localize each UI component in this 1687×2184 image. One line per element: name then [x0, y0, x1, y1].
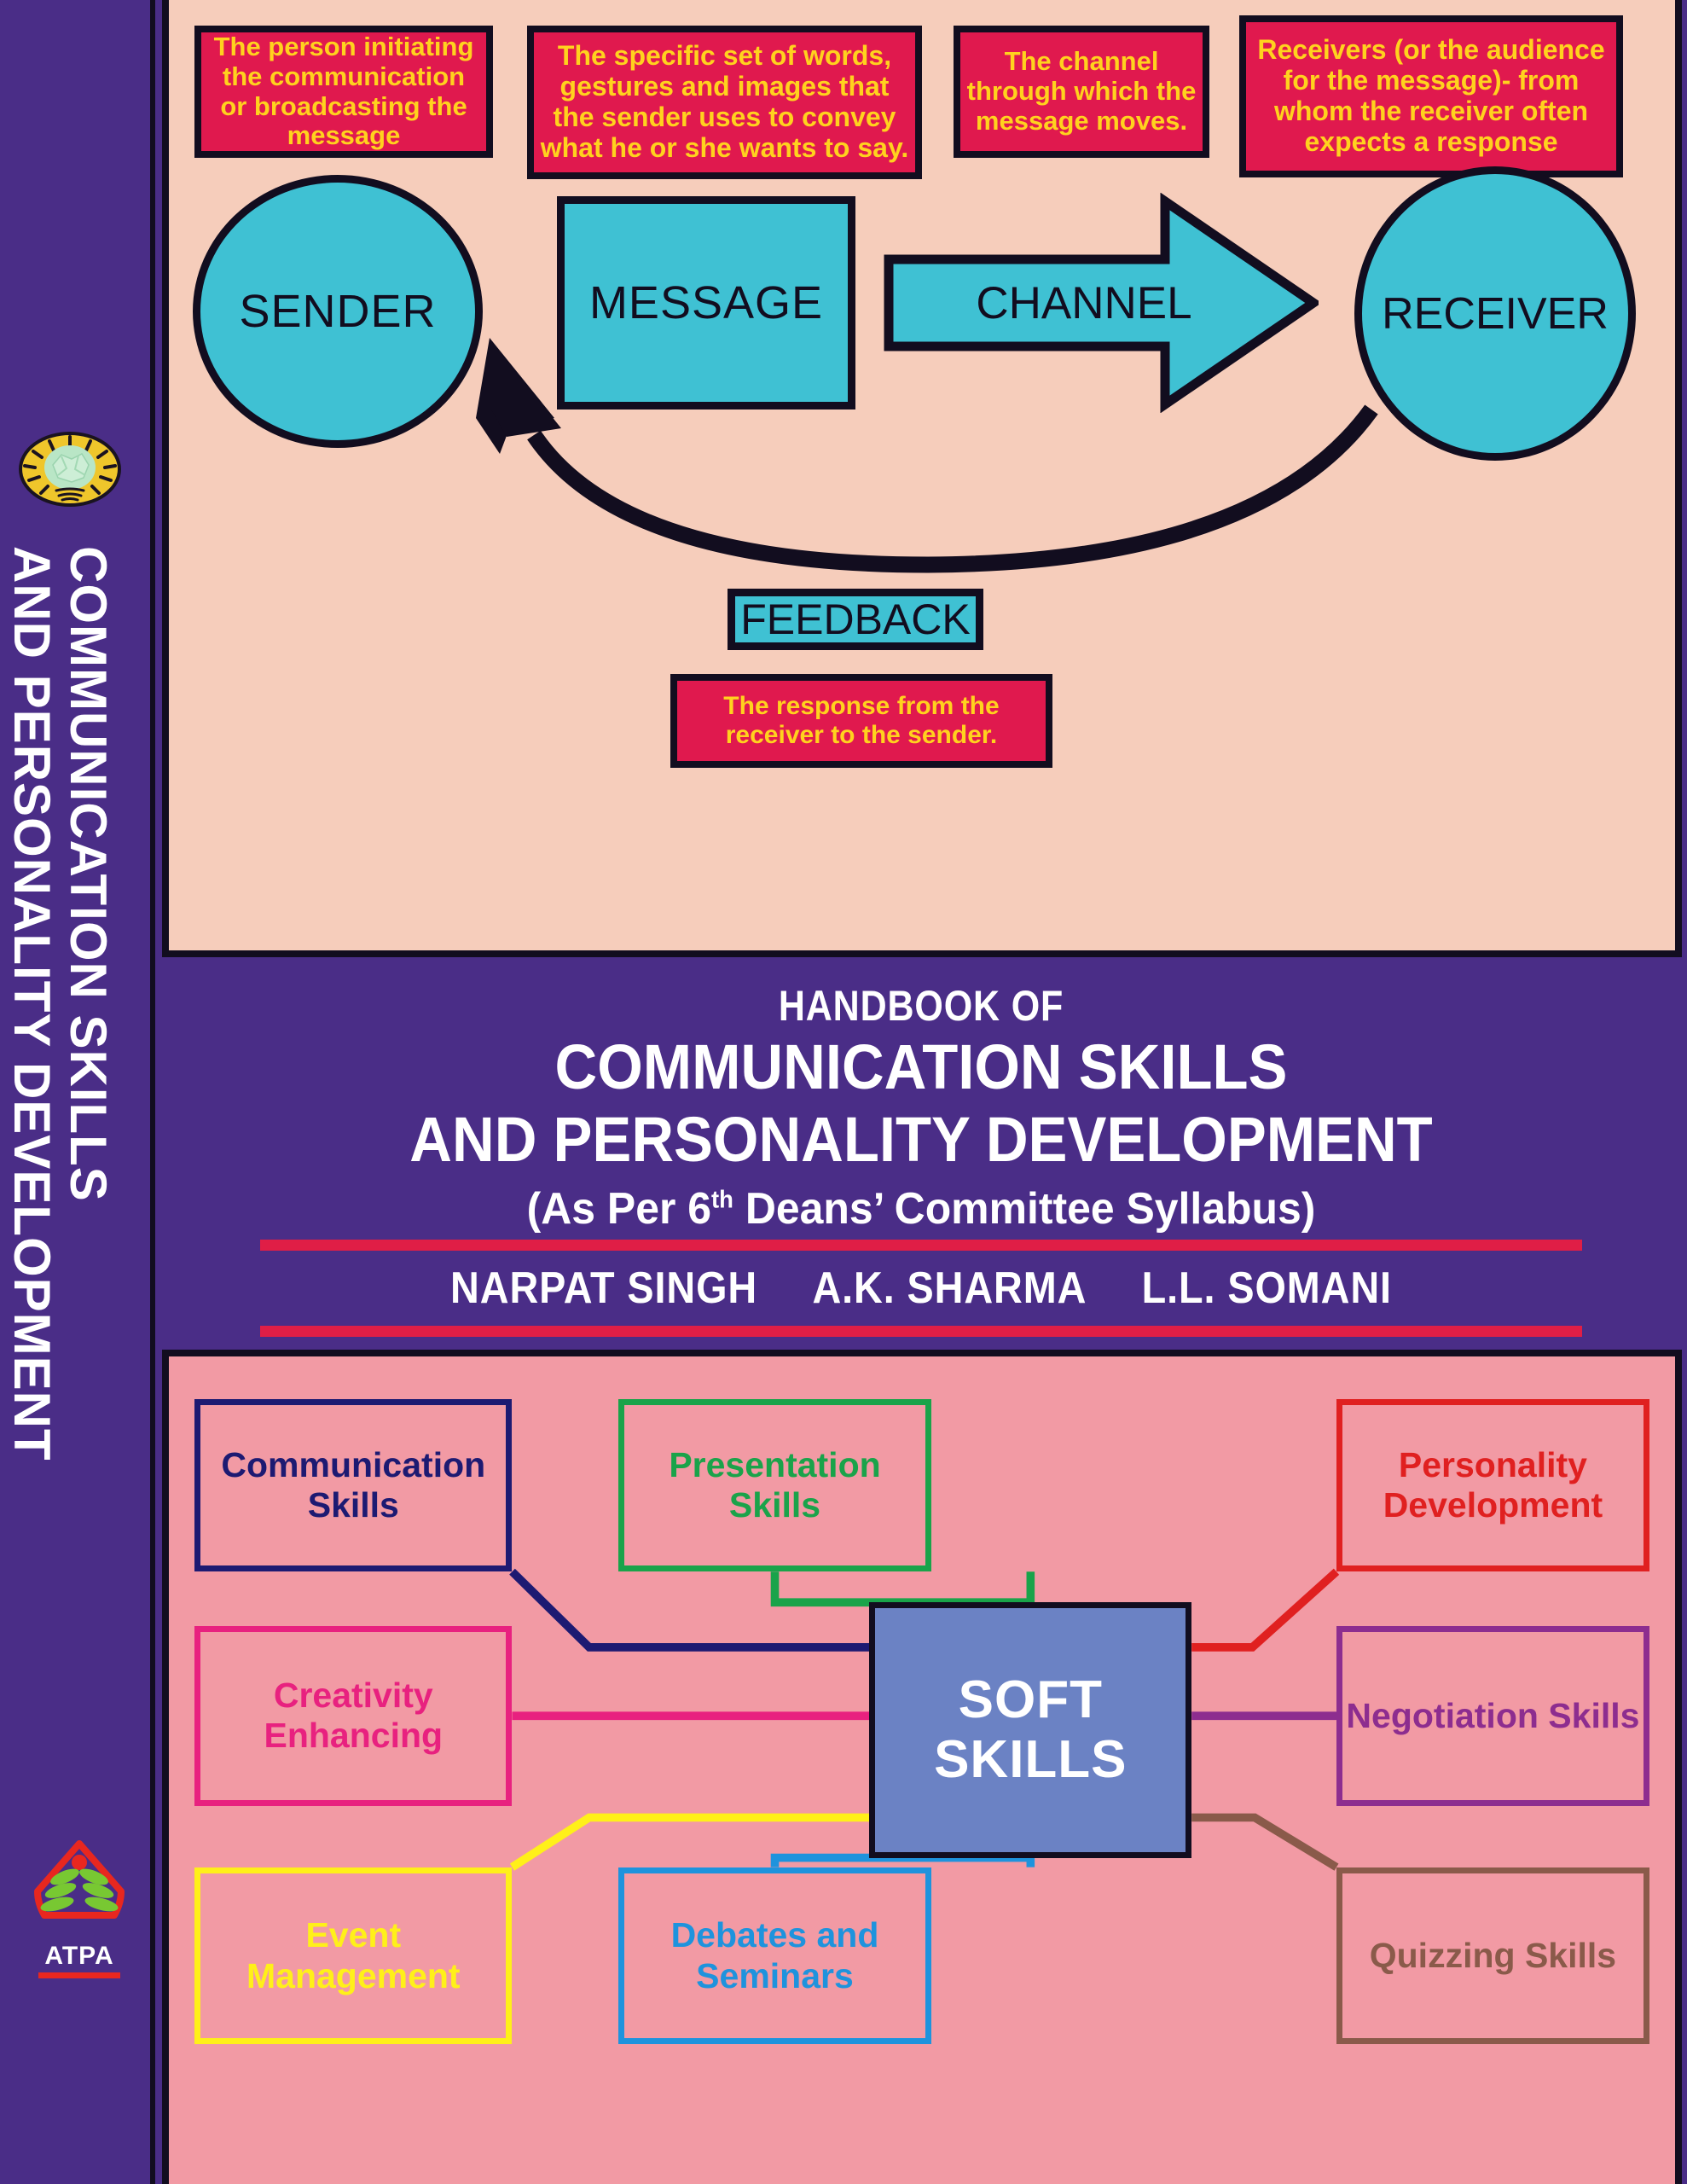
soft-skills-mind-map: Communication Skills Presentation Skills… — [162, 1350, 1682, 2184]
subtitle-post: Deans’ Committee Syllabus) — [733, 1184, 1315, 1234]
skill-box-negotiation-skills: Negotiation Skills — [1336, 1626, 1649, 1806]
sender-description-box: The person initiating the communication … — [194, 26, 493, 158]
channel-arrow-icon — [884, 193, 1319, 413]
spine-title: COMMUNICATION SKILLS AND PERSONALITY DEV… — [0, 546, 155, 1723]
book-front-cover: The person initiating the communication … — [155, 0, 1687, 2184]
publisher-abbrev: ATPA — [32, 1942, 126, 1971]
spine-title-line2: AND PERSONALITY DEVELOPMENT — [3, 546, 61, 1461]
soft-skills-center-node: SOFTSKILLS — [869, 1602, 1191, 1857]
author-3: L.L. SOMANI — [1142, 1263, 1392, 1313]
handbook-prefix: HANDBOOK OF — [263, 957, 1580, 1031]
sender-node: SENDER — [193, 175, 483, 448]
channel-description-box: The channel through which the message mo… — [954, 26, 1209, 158]
receiver-description-box: Receivers (or the audience for the messa… — [1239, 15, 1623, 177]
book-title-line1: COMMUNICATION SKILLS — [209, 1032, 1633, 1101]
skill-box-quizzing-skills: Quizzing Skills — [1336, 1867, 1649, 2045]
spine-title-line1: COMMUNICATION SKILLS — [59, 546, 118, 1202]
feedback-node: FEEDBACK — [728, 589, 983, 650]
crumpled-paper-idea-icon — [19, 431, 121, 508]
subtitle-pre: (As Per 6 — [527, 1184, 711, 1234]
atpa-leaf-shield-icon: ATPA — [32, 1838, 126, 1984]
skill-box-communication-skills: Communication Skills — [194, 1399, 512, 1571]
book-subtitle: (As Per 6th Deans’ Committee Syllabus) — [186, 1183, 1656, 1234]
author-1: NARPAT SINGH — [450, 1263, 757, 1313]
title-rule-top — [260, 1240, 1582, 1251]
skill-box-debates-and-seminars: Debates and Seminars — [618, 1867, 931, 2045]
title-block: HANDBOOK OF COMMUNICATION SKILLS AND PER… — [155, 957, 1687, 1350]
skill-box-creativity-enhancing: Creativity Enhancing — [194, 1626, 512, 1806]
soft-skills-center-text: SOFTSKILLS — [934, 1670, 1127, 1789]
message-description-box: The specific set of words, gestures and … — [527, 26, 922, 179]
authors-line: NARPAT SINGH A.K. SHARMA L.L. SOMANI — [232, 1263, 1610, 1314]
book-title-line2: AND PERSONALITY DEVELOPMENT — [209, 1105, 1633, 1174]
title-rule-bottom — [260, 1326, 1582, 1337]
book-spine: COMMUNICATION SKILLS AND PERSONALITY DEV… — [0, 0, 155, 2184]
feedback-description-box: The response from the receiver to the se… — [670, 674, 1052, 768]
communication-process-diagram: The person initiating the communication … — [162, 0, 1682, 957]
receiver-node: RECEIVER — [1354, 166, 1636, 461]
skill-box-personality-development: Personality Development — [1336, 1399, 1649, 1571]
author-2: A.K. SHARMA — [812, 1263, 1087, 1313]
subtitle-ordinal: th — [711, 1186, 733, 1213]
atpa-underline — [38, 1972, 120, 1978]
skill-box-event-management: Event Management — [194, 1867, 512, 2045]
message-node: MESSAGE — [557, 196, 855, 409]
skill-box-presentation-skills: Presentation Skills — [618, 1399, 931, 1571]
